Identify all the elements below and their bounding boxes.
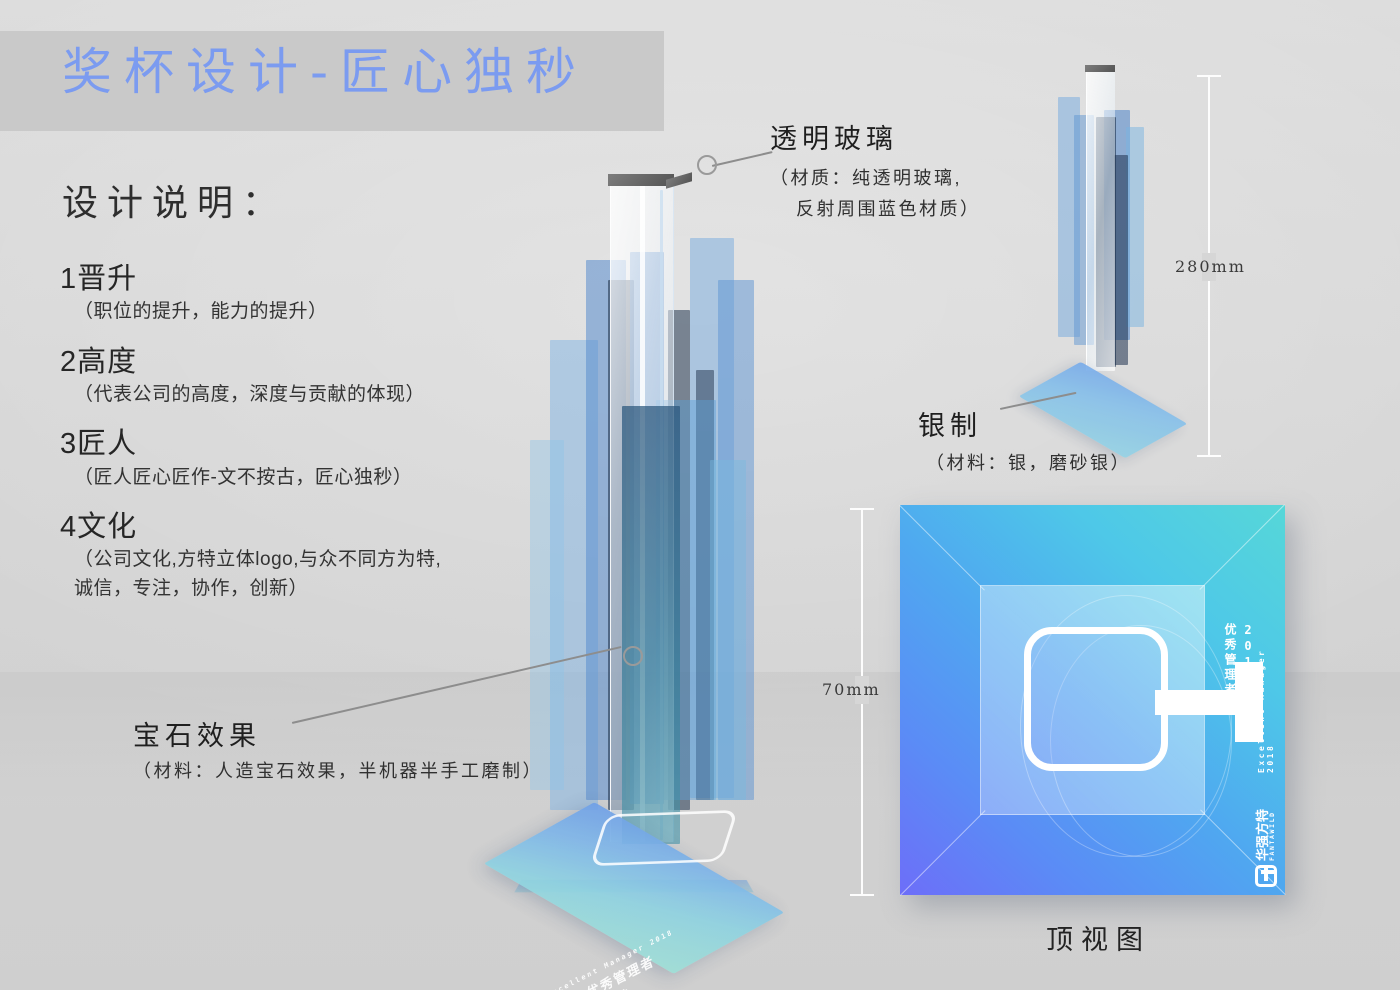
design-board: 奖杯设计-匠心独秒 设计说明： 1晋升 （职位的提升，能力的提升） 2高度 （代… xyxy=(0,0,1400,990)
callout-sub: （材质：纯透明玻璃, 反射周围蓝色材质） xyxy=(770,163,981,226)
callout-transparent-glass: 透明玻璃 （材质：纯透明玻璃, 反射周围蓝色材质） xyxy=(770,125,981,226)
topview-diagonal xyxy=(899,505,985,591)
topview-panel: Excellent Manager 2018 2018 优秀管理者 华强方特 F… xyxy=(900,505,1285,895)
silver-cap xyxy=(1085,65,1115,72)
trophy-small-render xyxy=(1030,55,1200,425)
callout-gem-effect: 宝石效果 （材料：人造宝石效果，半机器半手工磨制） xyxy=(133,722,543,787)
dimension-base-width: 70mm xyxy=(850,508,876,896)
callout-title: 宝石效果 xyxy=(133,722,543,752)
branding-english-line: Excellent Manager 2018 xyxy=(1257,623,1275,773)
silver-mount-ring xyxy=(590,810,739,866)
callout-marker-icon xyxy=(623,646,643,666)
trophy-main-render: 2018优秀管理者 Excellent Manager 2018 2018 优秀… xyxy=(490,160,810,960)
company-name-en: FANTAWILD xyxy=(1269,809,1276,861)
topview-diagonal xyxy=(1199,504,1285,590)
dimension-label: 280mm xyxy=(1175,257,1246,276)
callout-marker-icon xyxy=(697,155,717,175)
glass-slab xyxy=(710,460,746,800)
callout-sub: （材料：银，磨砂银） xyxy=(918,448,1131,480)
topview-caption: 顶视图 xyxy=(1046,918,1151,957)
dimension-label: 70mm xyxy=(822,680,881,699)
glass-slab xyxy=(1126,127,1144,327)
callout-sub-line: （材质：纯透明玻璃, xyxy=(770,163,981,195)
engraved-slab xyxy=(622,406,680,844)
dimension-height: 280mm xyxy=(1197,75,1223,457)
clear-glass-column xyxy=(1086,71,1115,371)
callout-title: 透明玻璃 xyxy=(770,125,981,155)
page-title: 奖杯设计-匠心独秒 xyxy=(62,47,588,97)
fantawild-logo-outline-icon xyxy=(1024,627,1168,771)
callout-sub-line: 反射周围蓝色材质） xyxy=(770,194,981,226)
callout-sub-line: （材料：银，磨砂银） xyxy=(926,448,1131,480)
topview-diagonal xyxy=(900,810,986,896)
branding-chinese-line: 优秀管理者 xyxy=(1222,623,1239,698)
topview-company-mark: 华强方特 FANTAWILD xyxy=(1255,809,1277,887)
dimension-cap-bottom xyxy=(1197,455,1221,457)
branding-year: 2018 xyxy=(1241,623,1255,687)
silver-cap xyxy=(608,174,674,186)
design-notes-heading: 设计说明： xyxy=(62,185,287,221)
company-mark-words: 华强方特 FANTAWILD xyxy=(1256,809,1276,861)
fantawild-logo-icon xyxy=(1255,865,1277,887)
callout-silver: 银制 （材料：银，磨砂银） xyxy=(918,412,1131,479)
callout-sub-line: （材料：人造宝石效果，半机器半手工磨制） xyxy=(133,756,543,788)
topview-branding-block: Excellent Manager 2018 2018 优秀管理者 xyxy=(1222,623,1275,773)
callout-sub: （材料：人造宝石效果，半机器半手工磨制） xyxy=(133,756,543,788)
dimension-cap-bottom xyxy=(850,894,874,896)
glass-slab-dark xyxy=(1114,155,1128,365)
callout-title: 银制 xyxy=(918,412,1131,442)
